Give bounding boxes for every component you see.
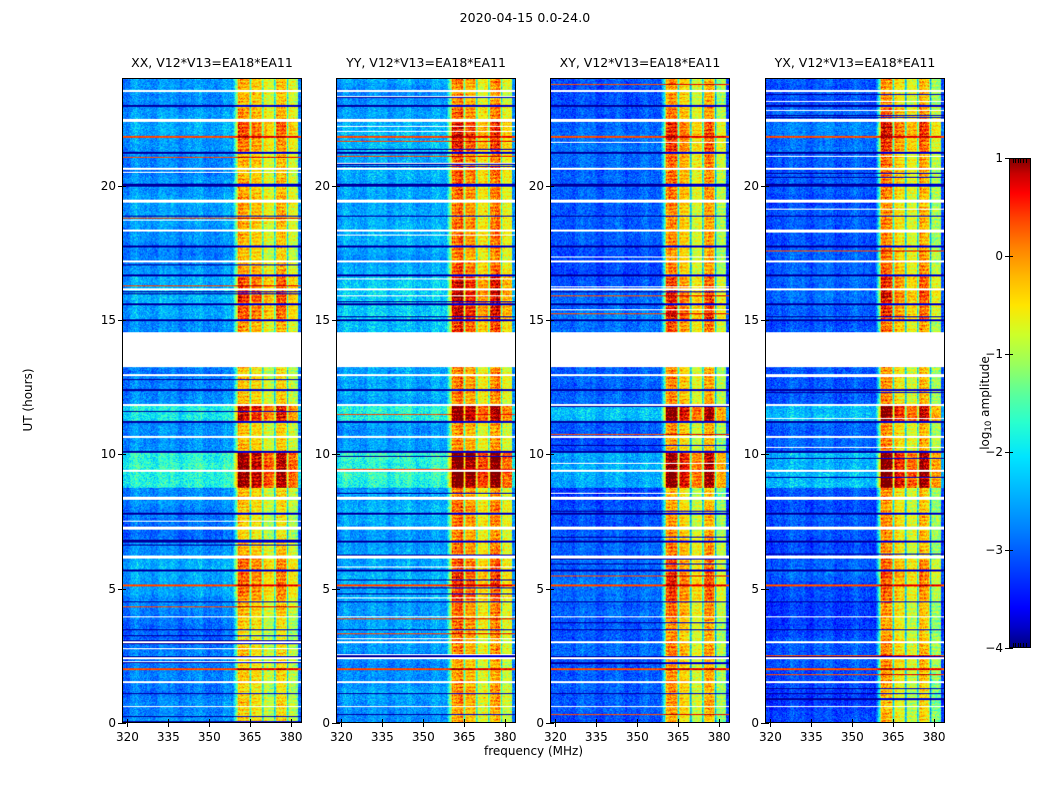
y-tick-mark-inner xyxy=(336,723,340,724)
x-tick-mark-inner xyxy=(893,719,894,723)
x-tick-label: 365 xyxy=(882,730,905,744)
waterfall-panel-yx[interactable]: YX, V12*V13=EA18*EA110510152032033535036… xyxy=(765,78,945,723)
x-tick-label: 320 xyxy=(330,730,353,744)
y-tick-mark-inner xyxy=(550,320,554,321)
x-tick-label: 380 xyxy=(280,730,303,744)
x-tick-mark xyxy=(719,723,720,727)
y-tick-label: 5 xyxy=(536,582,544,596)
panel-title-xx: XX, V12*V13=EA18*EA11 xyxy=(131,55,293,70)
y-tick-label: 15 xyxy=(101,313,116,327)
x-tick-mark xyxy=(555,723,556,727)
y-tick-mark-inner xyxy=(122,723,126,724)
panel-axes-yx xyxy=(765,78,945,723)
y-tick-label: 20 xyxy=(529,179,544,193)
y-tick-mark-inner xyxy=(336,186,340,187)
waterfall-panel-xx[interactable]: XX, V12*V13=EA18*EA110510152032033535036… xyxy=(122,78,302,723)
x-tick-mark-inner xyxy=(291,719,292,723)
y-tick-label: 5 xyxy=(108,582,116,596)
x-tick-mark xyxy=(382,723,383,727)
y-tick-label: 20 xyxy=(315,179,330,193)
y-tick-label: 0 xyxy=(108,716,116,730)
x-tick-mark-inner xyxy=(852,719,853,723)
colorbar-tick-mark-inner xyxy=(1009,550,1013,551)
x-tick-mark-inner xyxy=(341,719,342,723)
y-tick-mark-inner xyxy=(122,589,126,590)
x-tick-label: 350 xyxy=(412,730,435,744)
waterfall-image-yx xyxy=(766,79,944,722)
colorbar-minor-ticks-top xyxy=(1010,158,1030,164)
x-tick-mark-inner xyxy=(596,719,597,723)
y-tick-mark-inner xyxy=(122,454,126,455)
x-tick-mark-inner xyxy=(811,719,812,723)
x-tick-mark xyxy=(770,723,771,727)
x-tick-label: 365 xyxy=(667,730,690,744)
waterfall-image-xx xyxy=(123,79,301,722)
y-tick-mark-inner xyxy=(765,454,769,455)
x-tick-mark-inner xyxy=(770,719,771,723)
x-tick-mark xyxy=(209,723,210,727)
y-tick-label: 10 xyxy=(315,447,330,461)
x-tick-mark xyxy=(127,723,128,727)
x-tick-mark xyxy=(250,723,251,727)
x-tick-label: 380 xyxy=(708,730,731,744)
x-tick-mark-inner xyxy=(934,719,935,723)
x-tick-mark-inner xyxy=(127,719,128,723)
x-tick-mark-inner xyxy=(250,719,251,723)
x-tick-mark-inner xyxy=(719,719,720,723)
colorbar-tick-label: −4 xyxy=(985,641,1003,655)
x-tick-mark xyxy=(893,723,894,727)
x-tick-label: 380 xyxy=(494,730,517,744)
y-tick-mark-inner xyxy=(550,186,554,187)
y-tick-label: 5 xyxy=(322,582,330,596)
x-tick-label: 380 xyxy=(923,730,946,744)
x-tick-mark xyxy=(811,723,812,727)
colorbar-tick-label: 0 xyxy=(995,249,1003,263)
x-tick-mark-inner xyxy=(209,719,210,723)
y-tick-mark-inner xyxy=(765,723,769,724)
y-axis-label: UT (hours) xyxy=(21,368,35,431)
x-tick-label: 320 xyxy=(116,730,139,744)
y-tick-label: 15 xyxy=(529,313,544,327)
x-tick-mark xyxy=(291,723,292,727)
panel-title-yy: YY, V12*V13=EA18*EA11 xyxy=(346,55,506,70)
y-tick-mark-inner xyxy=(122,186,126,187)
x-tick-mark-inner xyxy=(464,719,465,723)
y-tick-label: 10 xyxy=(529,447,544,461)
y-tick-label: 10 xyxy=(101,447,116,461)
x-tick-mark xyxy=(934,723,935,727)
figure-suptitle: 2020-04-15 0.0-24.0 xyxy=(0,10,1050,25)
y-tick-mark-inner xyxy=(550,589,554,590)
x-axis-label: frequency (MHz) xyxy=(122,744,945,758)
colorbar-tick-label: −3 xyxy=(985,543,1003,557)
y-tick-mark-inner xyxy=(122,320,126,321)
y-tick-label: 20 xyxy=(744,179,759,193)
y-tick-label: 0 xyxy=(751,716,759,730)
x-tick-mark xyxy=(464,723,465,727)
x-tick-mark xyxy=(341,723,342,727)
x-tick-mark xyxy=(505,723,506,727)
y-tick-mark-inner xyxy=(765,589,769,590)
colorbar-tick-mark-inner xyxy=(1009,256,1013,257)
panel-axes-xy xyxy=(550,78,730,723)
x-tick-mark xyxy=(423,723,424,727)
x-tick-label: 335 xyxy=(157,730,180,744)
colorbar-gradient xyxy=(1009,158,1031,648)
y-tick-mark-inner xyxy=(765,186,769,187)
colorbar-tick-mark-inner xyxy=(1009,648,1013,649)
y-tick-mark-inner xyxy=(550,454,554,455)
y-tick-mark-inner xyxy=(765,320,769,321)
x-tick-label: 335 xyxy=(585,730,608,744)
y-tick-label: 15 xyxy=(744,313,759,327)
y-tick-mark-inner xyxy=(336,454,340,455)
x-tick-label: 350 xyxy=(626,730,649,744)
x-tick-label: 365 xyxy=(453,730,476,744)
y-tick-label: 20 xyxy=(101,179,116,193)
x-tick-label: 335 xyxy=(371,730,394,744)
waterfall-image-yy xyxy=(337,79,515,722)
x-tick-mark-inner xyxy=(423,719,424,723)
x-tick-mark-inner xyxy=(382,719,383,723)
x-tick-label: 365 xyxy=(239,730,262,744)
x-tick-label: 350 xyxy=(841,730,864,744)
y-tick-label: 5 xyxy=(751,582,759,596)
x-tick-mark xyxy=(637,723,638,727)
panel-title-yx: YX, V12*V13=EA18*EA11 xyxy=(775,55,936,70)
y-tick-label: 0 xyxy=(322,716,330,730)
x-tick-mark-inner xyxy=(678,719,679,723)
waterfall-image-xy xyxy=(551,79,729,722)
x-tick-mark xyxy=(678,723,679,727)
x-tick-label: 320 xyxy=(544,730,567,744)
colorbar-tick-mark-inner xyxy=(1009,452,1013,453)
y-tick-label: 15 xyxy=(315,313,330,327)
y-tick-mark-inner xyxy=(336,589,340,590)
x-tick-mark xyxy=(168,723,169,727)
panel-title-xy: XY, V12*V13=EA18*EA11 xyxy=(560,55,721,70)
y-tick-label: 0 xyxy=(536,716,544,730)
x-tick-mark-inner xyxy=(505,719,506,723)
figure-canvas: 2020-04-15 0.0-24.0 XX, V12*V13=EA18*EA1… xyxy=(0,0,1050,800)
panel-axes-yy xyxy=(336,78,516,723)
colorbar[interactable]: 10−1−2−3−4 xyxy=(1009,158,1031,648)
x-tick-mark-inner xyxy=(168,719,169,723)
colorbar-tick-label: 1 xyxy=(995,151,1003,165)
x-tick-mark xyxy=(596,723,597,727)
colorbar-label: log10 amplitude xyxy=(978,356,992,450)
x-tick-mark-inner xyxy=(637,719,638,723)
waterfall-panel-yy[interactable]: YY, V12*V13=EA18*EA110510152032033535036… xyxy=(336,78,516,723)
x-tick-mark xyxy=(852,723,853,727)
x-tick-label: 335 xyxy=(800,730,823,744)
y-tick-mark-inner xyxy=(550,723,554,724)
x-tick-label: 320 xyxy=(759,730,782,744)
x-tick-mark-inner xyxy=(555,719,556,723)
colorbar-tick-mark-inner xyxy=(1009,354,1013,355)
panel-axes-xx xyxy=(122,78,302,723)
waterfall-panel-xy[interactable]: XY, V12*V13=EA18*EA110510152032033535036… xyxy=(550,78,730,723)
colorbar-minor-ticks-bottom xyxy=(1010,642,1030,648)
y-tick-label: 10 xyxy=(744,447,759,461)
x-tick-label: 350 xyxy=(198,730,221,744)
y-tick-mark-inner xyxy=(336,320,340,321)
